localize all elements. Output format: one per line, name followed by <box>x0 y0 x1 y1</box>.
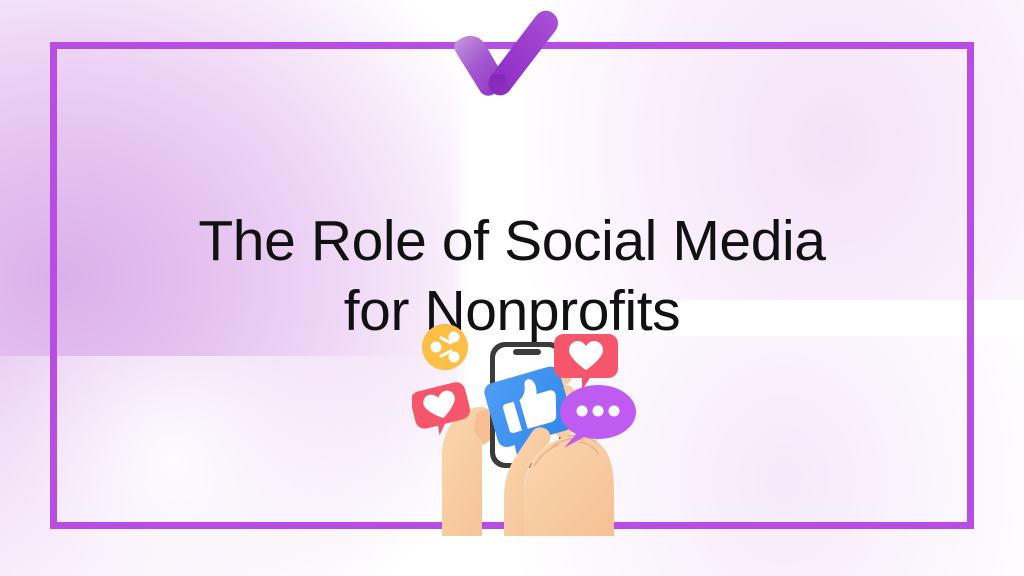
social-media-illustration <box>412 306 644 536</box>
checkmark-logo <box>452 2 564 102</box>
share-icon-badge <box>422 324 468 370</box>
slide-canvas: The Role of Social Media for Nonprofits <box>0 0 1024 576</box>
title-line-1: The Role of Social Media <box>0 206 1024 276</box>
